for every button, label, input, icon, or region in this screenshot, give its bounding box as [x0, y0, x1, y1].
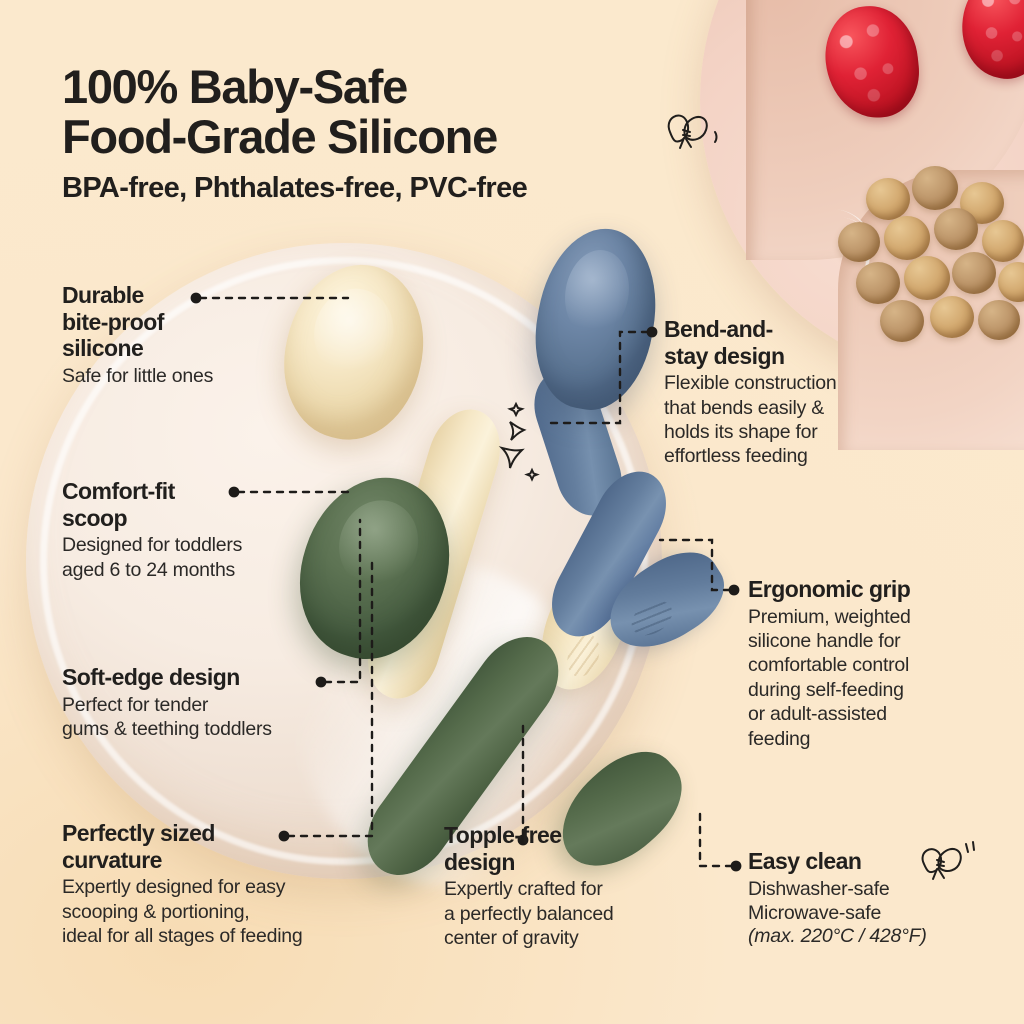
callout-soft-edge-design: Soft-edge design Perfect for tender gums…	[62, 664, 362, 741]
cereal-puff	[838, 222, 880, 262]
cereal-puff	[934, 208, 978, 250]
cereal-puff	[912, 166, 958, 210]
callout-bend-and-stay-design: Bend-and- stay design Flexible construct…	[664, 316, 904, 469]
callout-body: Expertly crafted for a perfectly balance…	[444, 877, 694, 950]
callout-note: (max. 220°C / 428°F)	[748, 925, 998, 948]
callout-title: Comfort-fit scoop	[62, 478, 342, 531]
cereal-puff	[866, 178, 910, 220]
callout-title: Durable bite-proof silicone	[62, 282, 312, 362]
callout-title: Soft-edge design	[62, 664, 362, 691]
cereal-puff	[856, 262, 900, 304]
headline-line-1: 100% Baby-Safe	[62, 62, 722, 112]
callout-perfectly-sized-curvature: Perfectly sized curvature Expertly desig…	[62, 820, 402, 948]
headline-block: 100% Baby-Safe Food-Grade Silicone BPA-f…	[62, 62, 722, 205]
callout-body: Expertly designed for easy scooping & po…	[62, 875, 402, 948]
callout-title: Ergonomic grip	[748, 576, 988, 603]
headline-line-2: Food-Grade Silicone	[62, 112, 722, 162]
cereal-puff	[930, 296, 974, 338]
callout-body: Safe for little ones	[62, 364, 312, 388]
cereal-puff	[904, 256, 950, 300]
callout-title: Topple-free design	[444, 822, 694, 875]
cereal-puff	[884, 216, 930, 260]
callout-body: Designed for toddlers aged 6 to 24 month…	[62, 533, 342, 582]
callout-durable: Durable bite-proof silicone Safe for lit…	[62, 282, 312, 388]
callout-title: Bend-and- stay design	[664, 316, 904, 369]
callout-body: Premium, weighted silicone handle for co…	[748, 605, 988, 751]
callout-body: Perfect for tender gums & teething toddl…	[62, 693, 362, 742]
callout-title: Perfectly sized curvature	[62, 820, 402, 873]
callout-body: Flexible construction that bends easily …	[664, 371, 904, 469]
headline-subtitle: BPA-free, Phthalates-free, PVC-free	[62, 172, 722, 205]
cereal-puff	[952, 252, 996, 294]
callout-comfort-fit-scoop: Comfort-fit scoop Designed for toddlers …	[62, 478, 342, 582]
cereal-puff	[982, 220, 1024, 262]
callout-title: Easy clean	[748, 848, 998, 875]
callout-easy-clean: Easy clean Dishwasher-safe Microwave-saf…	[748, 848, 998, 948]
callout-topple-free-design: Topple-free design Expertly crafted for …	[444, 822, 694, 950]
infographic-canvas: 100% Baby-Safe Food-Grade Silicone BPA-f…	[0, 0, 1024, 1024]
callout-ergonomic-grip: Ergonomic grip Premium, weighted silicon…	[748, 576, 988, 751]
cereal-puff	[978, 300, 1020, 340]
callout-body: Dishwasher-safe Microwave-safe	[748, 877, 998, 926]
